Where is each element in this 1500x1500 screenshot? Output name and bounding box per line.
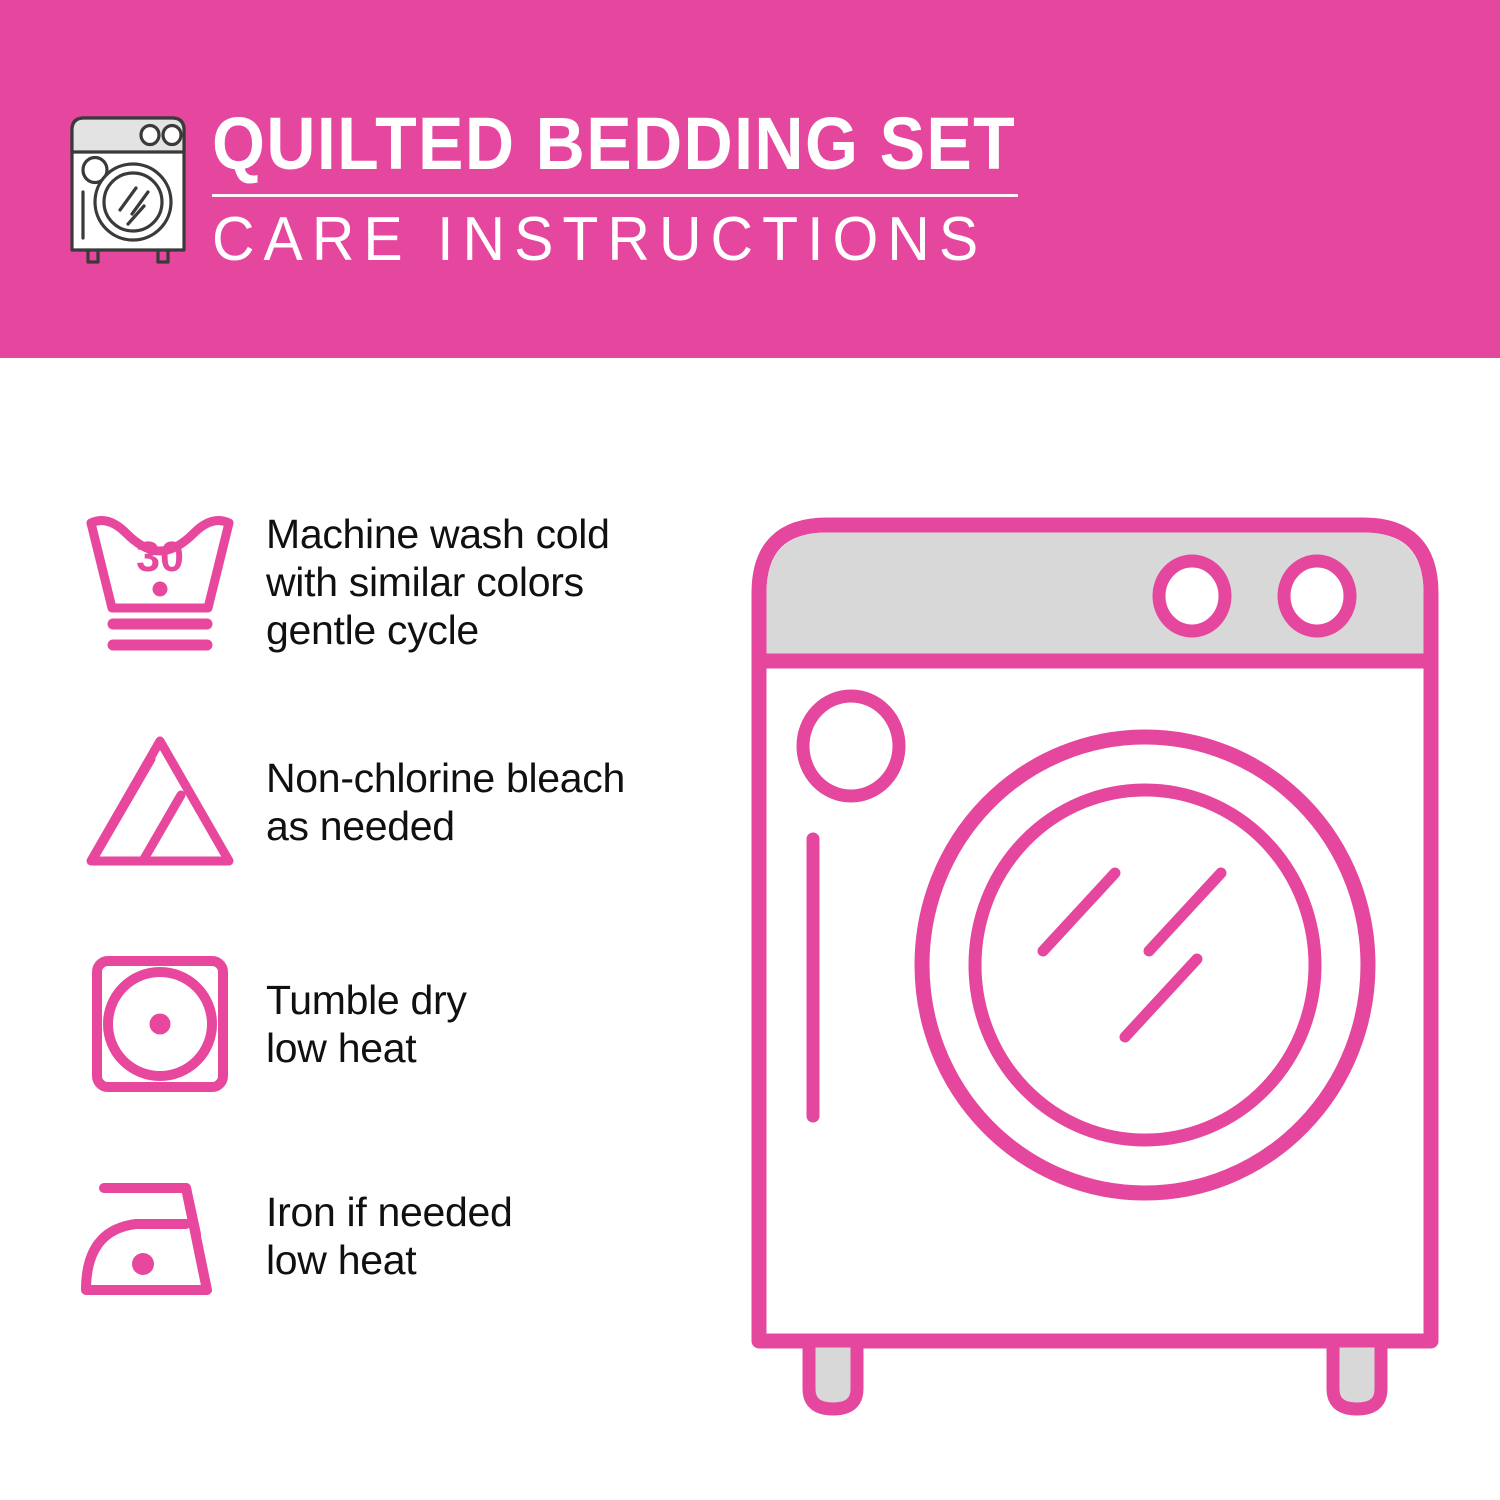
list-item-text: Non-chlorine bleach as needed bbox=[266, 754, 625, 850]
machine-wash-30-gentle-icon: 30 bbox=[74, 507, 246, 657]
machine-door bbox=[922, 737, 1368, 1193]
list-item: Non-chlorine bleach as needed bbox=[70, 718, 710, 886]
care-symbol-slot: 30 bbox=[70, 507, 250, 657]
page-subtitle: CARE INSTRUCTIONS bbox=[212, 207, 1042, 273]
knob-left-icon[interactable] bbox=[1159, 561, 1225, 631]
list-item: Iron if needed low heat bbox=[70, 1152, 710, 1320]
knob-right-icon[interactable] bbox=[1284, 561, 1350, 631]
care-symbol-slot bbox=[70, 951, 250, 1097]
iron-heat-dot bbox=[132, 1253, 154, 1275]
list-item-text: Tumble dry low heat bbox=[266, 976, 467, 1072]
dry-heat-dot bbox=[150, 1014, 171, 1035]
main-content: 30 Machine wash cold with similar colors… bbox=[0, 358, 1500, 1500]
washing-machine-outline-icon bbox=[62, 110, 194, 268]
header-content: QUILTED BEDDING SET CARE INSTRUCTIONS bbox=[62, 104, 1086, 273]
page-title: QUILTED BEDDING SET bbox=[212, 104, 1016, 184]
title-divider bbox=[212, 194, 1018, 197]
wash-dot bbox=[153, 582, 168, 597]
care-text-line: Iron if needed bbox=[266, 1188, 513, 1236]
care-symbol-slot bbox=[70, 729, 250, 875]
list-item-text: Iron if needed low heat bbox=[266, 1188, 513, 1284]
non-chlorine-bleach-triangle-icon bbox=[77, 729, 243, 875]
tumble-dry-low-heat-icon bbox=[87, 951, 233, 1097]
large-washing-machine-illustration bbox=[745, 503, 1445, 1433]
care-text-line: with similar colors bbox=[266, 558, 610, 606]
dispenser-icon bbox=[803, 696, 899, 796]
care-text-line: Machine wash cold bbox=[266, 510, 610, 558]
care-text-line: low heat bbox=[266, 1024, 467, 1072]
care-text-line: Non-chlorine bleach bbox=[266, 754, 625, 802]
care-instructions-list: 30 Machine wash cold with similar colors… bbox=[70, 498, 710, 1320]
list-item: 30 Machine wash cold with similar colors… bbox=[70, 498, 710, 666]
care-text-line: gentle cycle bbox=[266, 606, 610, 654]
care-text-line: as needed bbox=[266, 802, 625, 850]
machine-legs bbox=[809, 1341, 1381, 1409]
care-text-line: Tumble dry bbox=[266, 976, 467, 1024]
header-title-block: QUILTED BEDDING SET CARE INSTRUCTIONS bbox=[212, 104, 1086, 273]
header-banner: QUILTED BEDDING SET CARE INSTRUCTIONS bbox=[0, 0, 1500, 358]
wash-temperature-label: 30 bbox=[136, 533, 184, 581]
care-symbol-slot bbox=[70, 1168, 250, 1304]
iron-low-heat-icon bbox=[74, 1168, 246, 1304]
list-item: Tumble dry low heat bbox=[70, 940, 710, 1108]
list-item-text: Machine wash cold with similar colors ge… bbox=[266, 510, 610, 654]
care-text-line: low heat bbox=[266, 1236, 513, 1284]
